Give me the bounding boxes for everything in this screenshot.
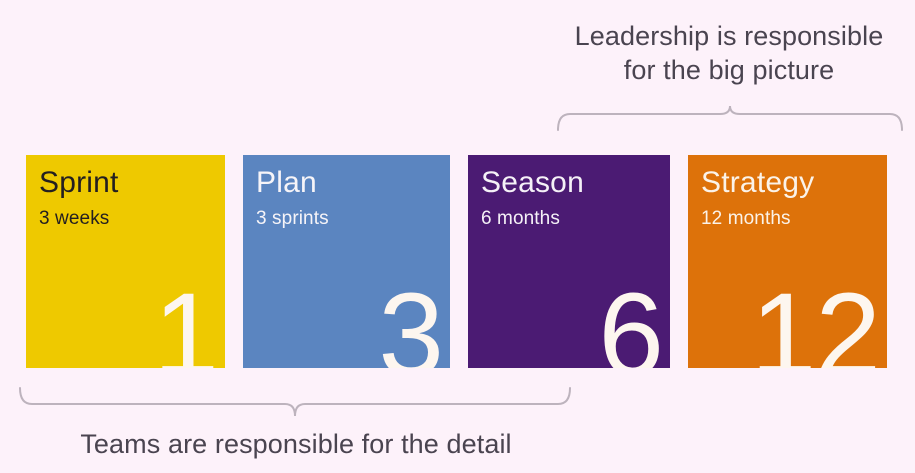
teams-brace-icon: [18, 386, 572, 422]
tile-season-title: Season: [481, 165, 584, 201]
tile-plan-number: 3: [378, 276, 443, 368]
leadership-brace-icon: [556, 104, 904, 134]
cadence-diagram: Leadership is responsible for the big pi…: [0, 0, 915, 473]
tile-plan-title: Plan: [256, 165, 317, 201]
leadership-annotation-label: Leadership is responsible for the big pi…: [543, 19, 915, 87]
tile-strategy-title: Strategy: [701, 165, 814, 201]
tile-plan[interactable]: Plan 3 sprints 3: [243, 155, 450, 368]
tile-season-subtitle: 6 months: [481, 207, 560, 231]
tile-season-number: 6: [598, 276, 663, 368]
tile-sprint-title: Sprint: [39, 165, 119, 201]
tile-plan-subtitle: 3 sprints: [256, 207, 329, 231]
tile-strategy-number: 12: [751, 276, 880, 368]
tile-sprint[interactable]: Sprint 3 weeks 1: [26, 155, 225, 368]
tile-sprint-number: 1: [153, 276, 218, 368]
tile-strategy-subtitle: 12 months: [701, 207, 791, 231]
teams-annotation-label: Teams are responsible for the detail: [22, 427, 570, 461]
tile-strategy[interactable]: Strategy 12 months 12: [688, 155, 887, 368]
tile-season[interactable]: Season 6 months 6: [468, 155, 670, 368]
tile-sprint-subtitle: 3 weeks: [39, 207, 109, 231]
